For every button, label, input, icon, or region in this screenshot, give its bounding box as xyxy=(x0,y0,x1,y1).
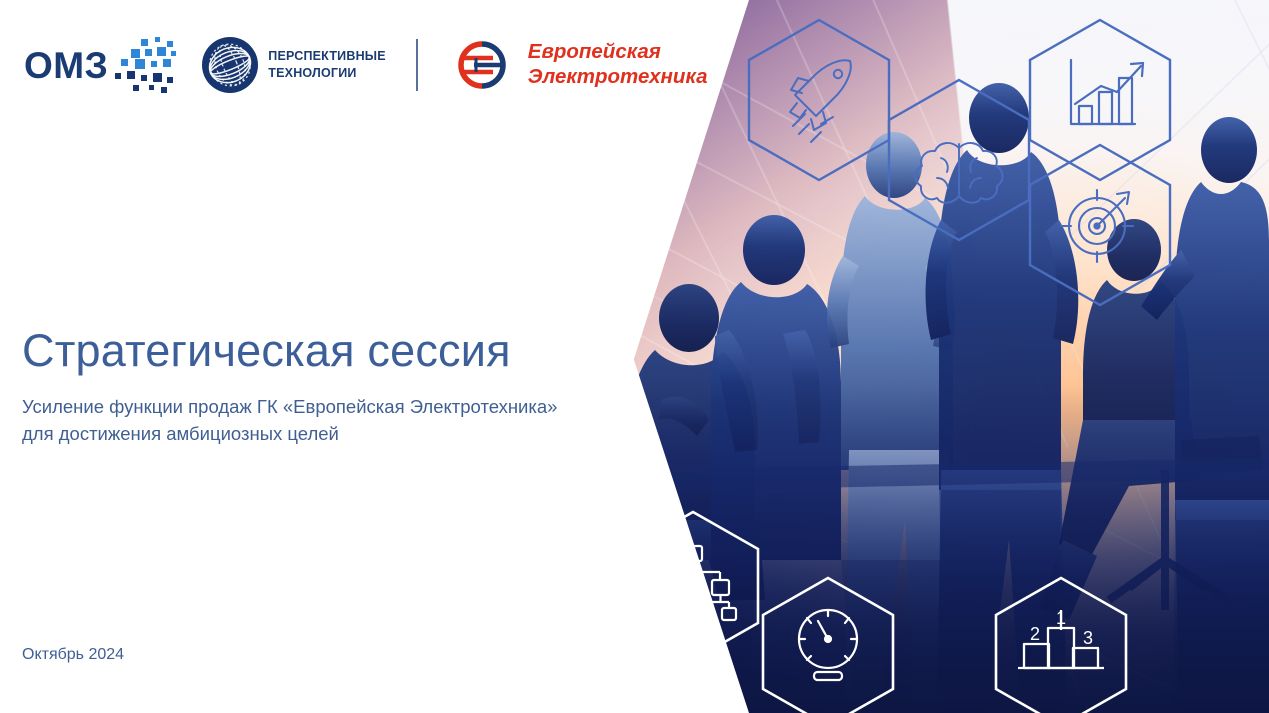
logo-divider xyxy=(416,39,418,91)
page-title: Стратегическая сессия xyxy=(22,326,511,376)
omz-globe-icon xyxy=(201,36,259,94)
ee-emblem-icon xyxy=(446,38,518,92)
slide-date: Октябрь 2024 xyxy=(22,646,124,664)
logo-omz: ОМЗ xyxy=(24,35,386,95)
omz-subtitle: ПЕРСПЕКТИВНЫЕ ТЕХНОЛОГИИ xyxy=(268,48,386,83)
omz-wordmark: ОМЗ xyxy=(24,47,108,84)
title-slide: 1 2 3 ОМЗ xyxy=(0,0,1269,713)
logo-bar: ОМЗ xyxy=(24,32,708,98)
page-subtitle: Усиление функции продаж ГК «Европейская … xyxy=(22,393,672,449)
artwork-panel: 1 2 3 xyxy=(569,0,1269,713)
logo-european-electrotech: Европейская Электротехника xyxy=(446,38,708,92)
ee-wordmark: Европейская Электротехника xyxy=(528,40,708,89)
omz-pixel-pattern-icon xyxy=(111,35,203,95)
